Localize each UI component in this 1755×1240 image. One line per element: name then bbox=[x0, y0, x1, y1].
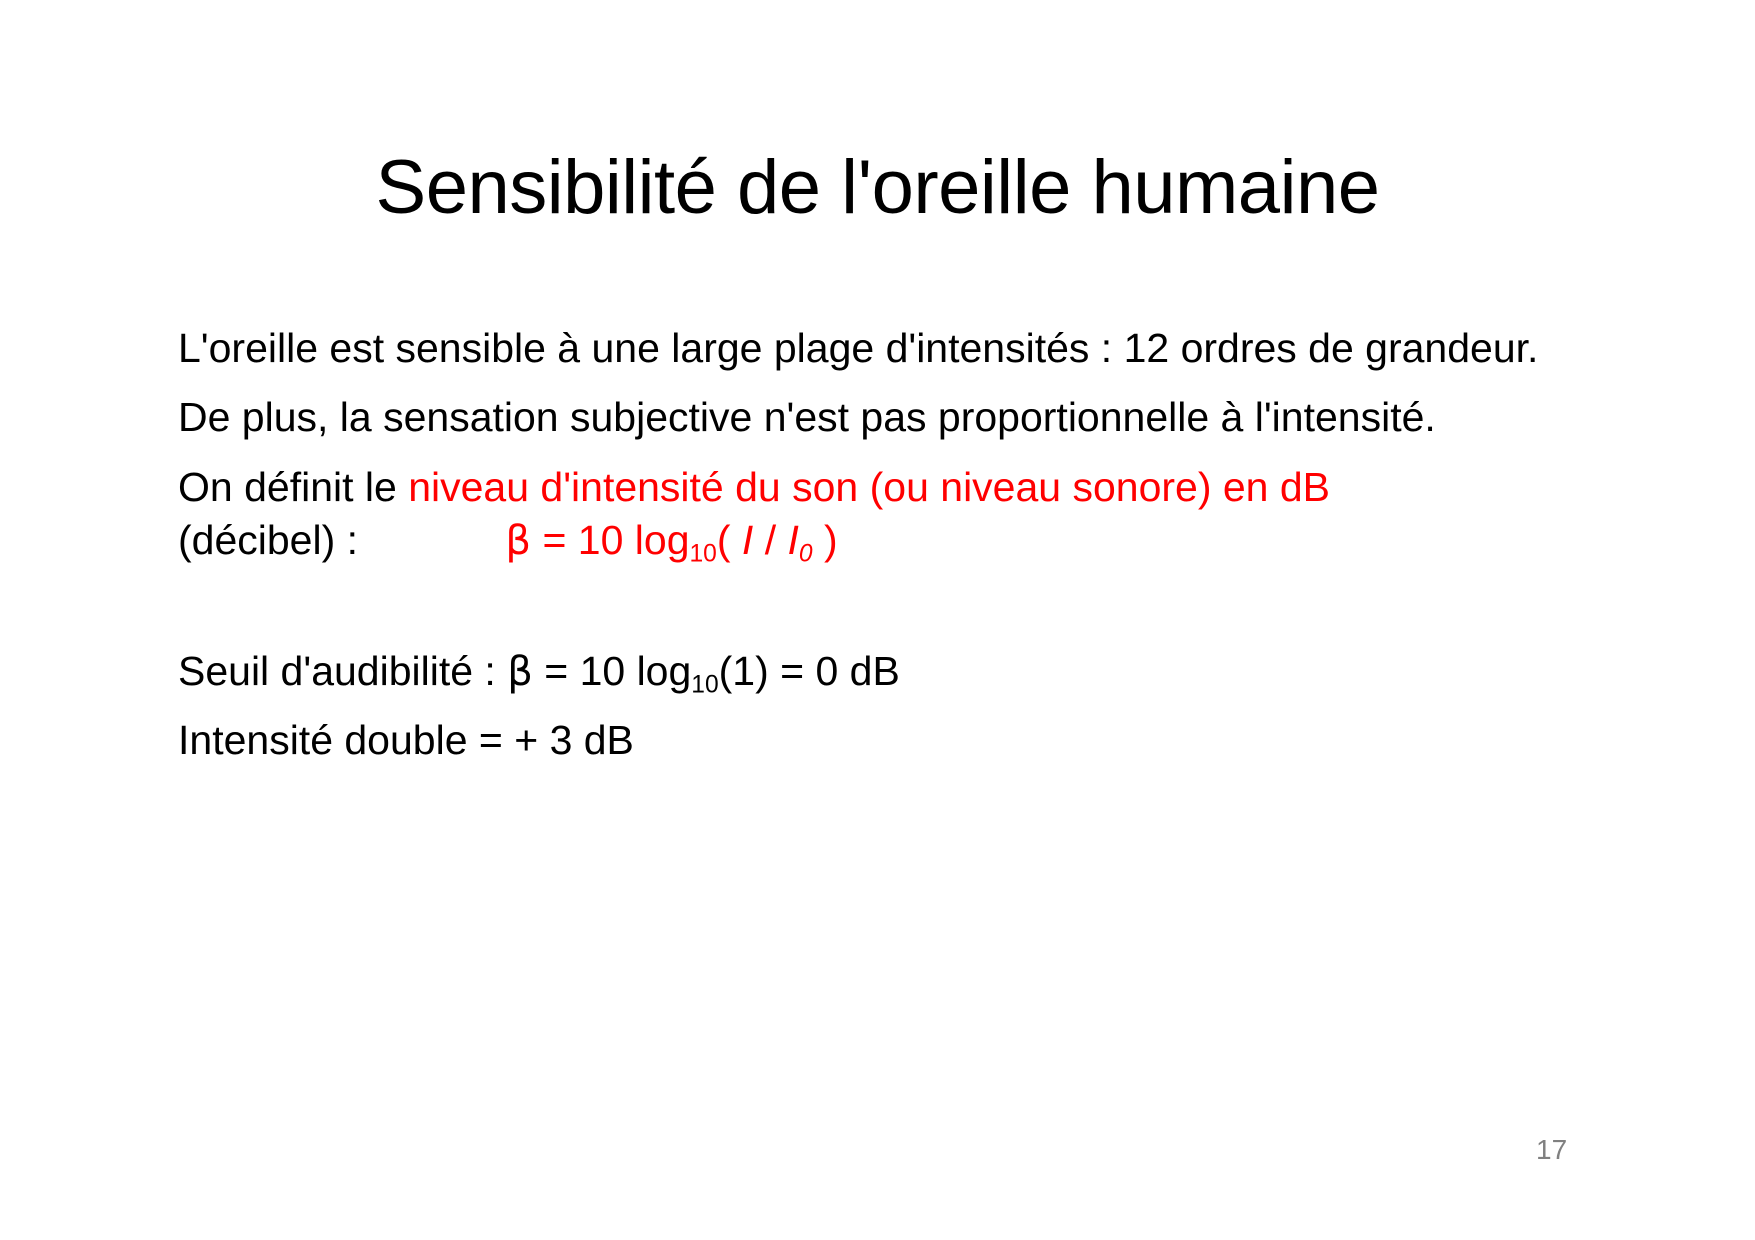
definition-red-phrase: niveau d'intensité du son (ou niveau son… bbox=[408, 464, 1330, 510]
threshold-beta-symbol: β bbox=[507, 649, 533, 695]
page-number: 17 bbox=[1536, 1134, 1567, 1166]
paragraph-subjective-sensation: De plus, la sensation subjective n'est p… bbox=[178, 391, 1563, 444]
formula-decibel-definition: β = 10 log10( I / I0 ) bbox=[505, 517, 837, 563]
paragraph-definition: On définit le niveau d'intensité du son … bbox=[178, 461, 1563, 568]
paragraph-double-intensity: Intensité double = + 3 dB bbox=[178, 714, 1563, 767]
page-title: Sensibilité de l'oreille humaine bbox=[0, 147, 1755, 229]
threshold-tail: (1) = 0 dB bbox=[719, 648, 900, 694]
double-intensity-text: Intensité double = + 3 dB bbox=[178, 717, 634, 763]
formula-divider: / bbox=[753, 517, 787, 563]
threshold-equals-ten-log: = 10 log bbox=[533, 648, 691, 694]
vertical-spacer bbox=[178, 583, 1578, 645]
slide-body: L'oreille est sensible à une large plage… bbox=[178, 322, 1578, 784]
definition-lead-text: On définit le bbox=[178, 464, 408, 510]
paragraph-intensity-range-text: L'oreille est sensible à une large plage… bbox=[178, 325, 1538, 371]
paragraph-hearing-threshold: Seuil d'audibilité : β = 10 log10(1) = 0… bbox=[178, 645, 1563, 698]
formula-close-paren: ) bbox=[813, 517, 838, 563]
reference-intensity-symbol: I bbox=[788, 517, 799, 563]
log-base-subscript: 10 bbox=[690, 540, 717, 567]
decibel-lead-text: (décibel) : bbox=[178, 517, 369, 563]
slide-canvas: Sensibilité de l'oreille humaine L'oreil… bbox=[0, 0, 1755, 1240]
formula-equals-ten-log: = 10 log bbox=[531, 517, 689, 563]
threshold-label: Seuil d'audibilité : bbox=[178, 648, 507, 694]
threshold-log-base-subscript: 10 bbox=[691, 672, 718, 699]
reference-intensity-subscript: 0 bbox=[799, 540, 813, 567]
intensity-symbol: I bbox=[742, 517, 753, 563]
beta-symbol: β bbox=[505, 518, 531, 564]
paragraph-intensity-range: L'oreille est sensible à une large plage… bbox=[178, 322, 1563, 375]
formula-open-paren: ( bbox=[717, 517, 742, 563]
paragraph-subjective-sensation-text: De plus, la sensation subjective n'est p… bbox=[178, 394, 1436, 440]
